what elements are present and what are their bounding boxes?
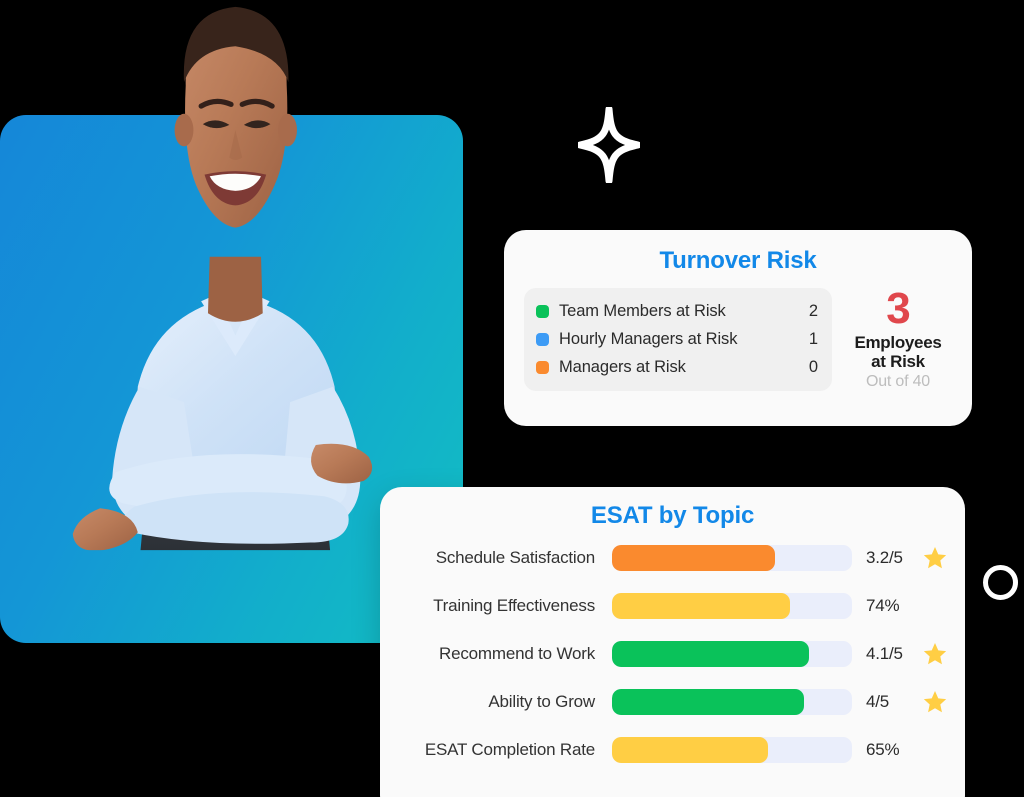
legend-label-team-members: Team Members at Risk (559, 302, 796, 321)
esat-row-label: Schedule Satisfaction (380, 548, 595, 568)
esat-row-label: Training Effectiveness (380, 596, 595, 616)
sparkle-icon (578, 107, 640, 183)
esat-bar-track (612, 545, 852, 571)
esat-row-value: 3.2/5 (866, 548, 922, 568)
star-icon (922, 689, 948, 715)
legend-value-hourly-managers: 1 (806, 330, 818, 349)
esat-bar-track (612, 737, 852, 763)
hand-left (73, 508, 138, 551)
esat-row: Schedule Satisfaction3.2/5 (380, 545, 965, 571)
star-icon-placeholder (922, 593, 948, 619)
employees-at-risk-label-line2: at Risk (871, 352, 925, 371)
esat-row-label: ESAT Completion Rate (380, 740, 595, 760)
esat-row-value: 65% (866, 740, 922, 760)
turnover-risk-card: Turnover Risk Team Members at Risk 2 Hou… (504, 230, 972, 426)
legend-dot-green (536, 305, 549, 318)
screenshot-root: Turnover Risk Team Members at Risk 2 Hou… (0, 0, 1024, 797)
esat-bar-track (612, 593, 852, 619)
employees-at-risk-count: 3 (886, 288, 909, 330)
esat-bar-chart: Schedule Satisfaction3.2/5Training Effec… (380, 545, 965, 763)
esat-row-label: Recommend to Work (380, 644, 595, 664)
hand-right (311, 444, 372, 484)
star-icon (922, 641, 948, 667)
esat-bar-fill (612, 689, 804, 715)
legend-row-managers[interactable]: Managers at Risk 0 (536, 358, 818, 377)
esat-row: Ability to Grow4/5 (380, 689, 965, 715)
head (175, 7, 297, 228)
legend-dot-orange (536, 361, 549, 374)
employees-at-risk-label: Employees at Risk (854, 333, 941, 371)
esat-row-value: 4.1/5 (866, 644, 922, 664)
esat-row-label: Ability to Grow (380, 692, 595, 712)
shirt-collar (201, 294, 269, 356)
legend-dot-blue (536, 333, 549, 346)
neck (208, 257, 263, 322)
star-icon-placeholder (922, 737, 948, 763)
shirt-sleeve-right (280, 387, 360, 527)
esat-bar-fill (612, 545, 775, 571)
hair (184, 7, 289, 82)
circle-outline-icon (983, 565, 1018, 600)
turnover-risk-body: Team Members at Risk 2 Hourly Managers a… (524, 288, 952, 390)
esat-row-value: 4/5 (866, 692, 922, 712)
esat-row: ESAT Completion Rate65% (380, 737, 965, 763)
turnover-risk-title: Turnover Risk (524, 248, 952, 274)
esat-by-topic-card: ESAT by Topic Schedule Satisfaction3.2/5… (380, 487, 965, 797)
esat-bar-track (612, 689, 852, 715)
esat-bar-track (612, 641, 852, 667)
shirt-sleeve-left (112, 387, 201, 527)
legend-label-hourly-managers: Hourly Managers at Risk (559, 330, 796, 349)
legend-value-team-members: 2 (806, 302, 818, 321)
legend-row-hourly-managers[interactable]: Hourly Managers at Risk 1 (536, 330, 818, 349)
esat-row: Recommend to Work4.1/5 (380, 641, 965, 667)
star-icon (922, 545, 948, 571)
esat-row-value: 74% (866, 596, 922, 616)
employees-total-label: Out of 40 (866, 373, 930, 391)
esat-bar-fill (612, 641, 809, 667)
esat-by-topic-title: ESAT by Topic (380, 503, 965, 529)
legend-value-managers: 0 (806, 358, 818, 377)
esat-bar-fill (612, 593, 790, 619)
turnover-summary: 3 Employees at Risk Out of 40 (840, 288, 952, 390)
turnover-legend-panel: Team Members at Risk 2 Hourly Managers a… (524, 288, 832, 390)
forearm-lower (121, 492, 348, 544)
shirt-torso (129, 301, 345, 538)
trousers (136, 474, 335, 599)
esat-bar-fill (612, 737, 768, 763)
employees-at-risk-label-line1: Employees (854, 333, 941, 352)
legend-label-managers: Managers at Risk (559, 358, 796, 377)
esat-row: Training Effectiveness74% (380, 593, 965, 619)
legend-row-team-members[interactable]: Team Members at Risk 2 (536, 302, 818, 321)
forearm-upper (109, 454, 346, 514)
